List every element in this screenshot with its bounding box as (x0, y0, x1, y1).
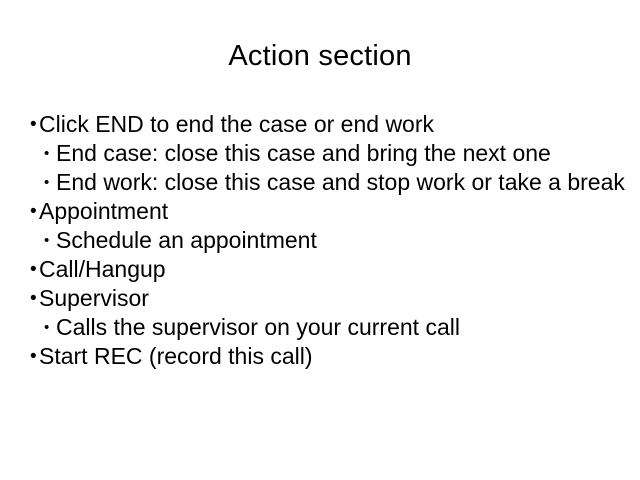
bullet-item: •End work: close this case and stop work… (28, 168, 628, 197)
bullet-item: •Appointment (28, 197, 628, 226)
bullet-dot-icon: • (44, 168, 56, 197)
bullet-text: Supervisor (39, 284, 628, 313)
bullet-list: •Click END to end the case or end work•E… (28, 110, 628, 371)
bullet-item: •Schedule an appointment (28, 226, 628, 255)
bullet-dot-icon: • (30, 255, 39, 284)
bullet-text: Click END to end the case or end work (39, 110, 628, 139)
bullet-text: Appointment (39, 197, 628, 226)
bullet-dot-icon: • (30, 110, 39, 139)
bullet-item: •Call/Hangup (28, 255, 628, 284)
bullet-dot-icon: • (30, 284, 39, 313)
bullet-text: Call/Hangup (39, 255, 628, 284)
bullet-text: Start REC (record this call) (39, 342, 628, 371)
bullet-item: •End case: close this case and bring the… (28, 139, 628, 168)
slide-canvas: Action section •Click END to end the cas… (0, 0, 640, 480)
page-title: Action section (0, 38, 640, 74)
bullet-item: •Click END to end the case or end work (28, 110, 628, 139)
bullet-dot-icon: • (30, 342, 39, 371)
bullet-text: Schedule an appointment (56, 226, 628, 255)
bullet-item: •Calls the supervisor on your current ca… (28, 313, 628, 342)
bullet-dot-icon: • (44, 226, 56, 255)
bullet-dot-icon: • (44, 313, 56, 342)
bullet-item: •Supervisor (28, 284, 628, 313)
bullet-dot-icon: • (30, 197, 39, 226)
bullet-text: End work: close this case and stop work … (56, 168, 628, 197)
bullet-dot-icon: • (44, 139, 56, 168)
bullet-text: Calls the supervisor on your current cal… (56, 313, 628, 342)
bullet-text: End case: close this case and bring the … (56, 139, 628, 168)
bullet-item: •Start REC (record this call) (28, 342, 628, 371)
